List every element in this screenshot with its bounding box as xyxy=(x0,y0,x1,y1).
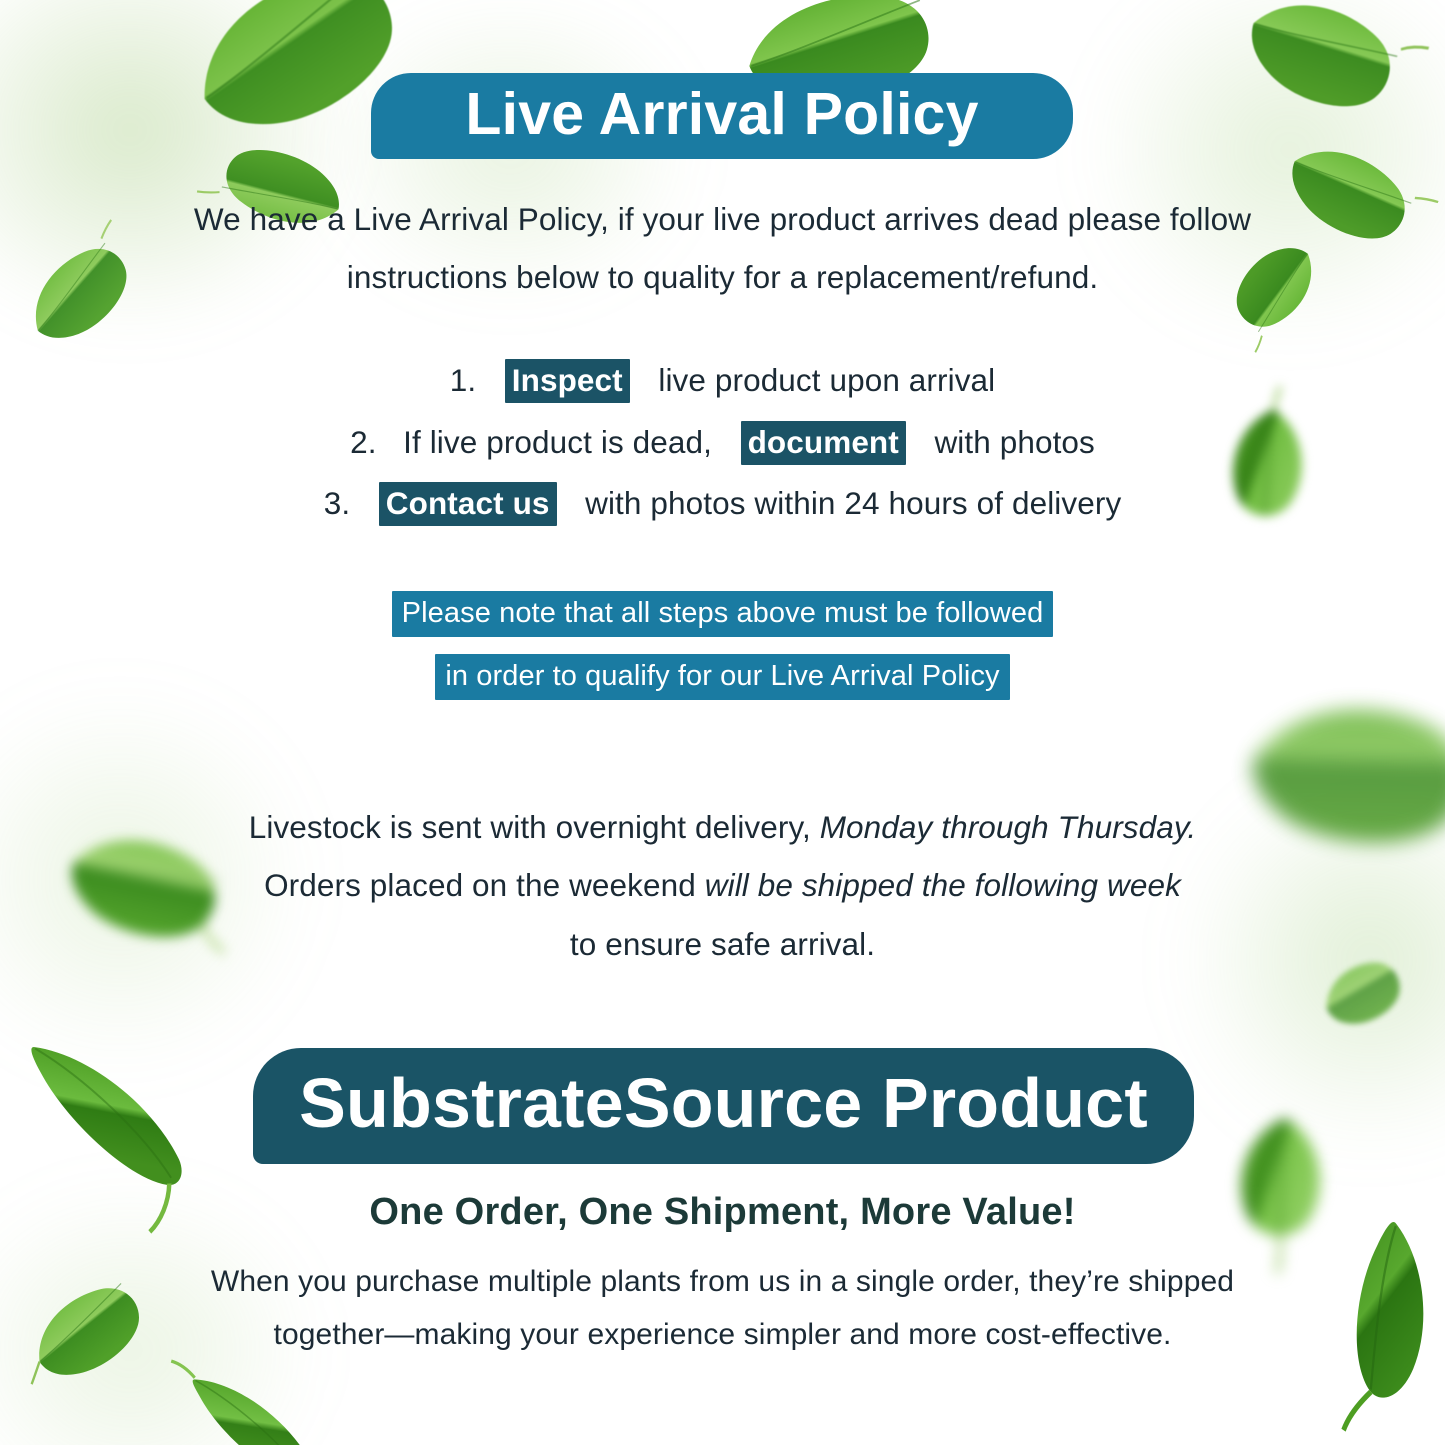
intro-line-1: We have a Live Arrival Policy, if your l… xyxy=(150,190,1295,248)
intro-line-2: instructions below to quality for a repl… xyxy=(150,248,1295,306)
step-text-pre: If live product is dead, xyxy=(403,424,712,460)
step-number: 2. xyxy=(350,424,376,460)
list-item: 1. Inspect live product upon arrival xyxy=(120,350,1325,412)
closing-line-2: together—making your experience simpler … xyxy=(150,1308,1295,1361)
step-highlight-document: document xyxy=(741,421,906,465)
policy-note-block: Please note that all steps above must be… xyxy=(120,582,1325,708)
livestock-line-2: Orders placed on the weekend will be shi… xyxy=(175,856,1270,914)
livestock-line-2-italic: will be shipped the following week xyxy=(705,867,1181,903)
list-item: 2. If live product is dead, document wit… xyxy=(120,412,1325,474)
substratesource-subheading: One Order, One Shipment, More Value! xyxy=(120,1191,1325,1234)
note-line-2-wrapper: in order to qualify for our Live Arrival… xyxy=(120,645,1325,708)
step-text: live product upon arrival xyxy=(658,362,995,398)
list-item: 3. Contact us with photos within 24 hour… xyxy=(120,473,1325,535)
step-text: with photos within 24 hours of delivery xyxy=(585,485,1121,521)
livestock-line-2-plain: Orders placed on the weekend xyxy=(264,867,696,903)
live-arrival-intro-paragraph: We have a Live Arrival Policy, if your l… xyxy=(150,190,1295,307)
step-highlight-contact-us[interactable]: Contact us xyxy=(379,482,557,526)
note-line-2: in order to qualify for our Live Arrival… xyxy=(435,654,1009,700)
live-arrival-policy-banner: Live Arrival Policy xyxy=(371,73,1073,159)
substratesource-product-banner: SubstrateSource Product xyxy=(253,1048,1194,1164)
live-arrival-steps-list: 1. Inspect live product upon arrival 2. … xyxy=(120,350,1325,535)
content-layer: Live Arrival Policy We have a Live Arriv… xyxy=(0,0,1445,1445)
livestock-line-1-plain: Livestock is sent with overnight deliver… xyxy=(249,809,811,845)
note-line-1: Please note that all steps above must be… xyxy=(392,591,1054,637)
livestock-line-3: to ensure safe arrival. xyxy=(175,915,1270,973)
step-number: 3. xyxy=(324,485,350,521)
livestock-line-1-italic: Monday through Thursday. xyxy=(820,809,1197,845)
livestock-shipping-paragraph: Livestock is sent with overnight deliver… xyxy=(175,798,1270,973)
step-text: with photos xyxy=(934,424,1094,460)
note-line-1-wrapper: Please note that all steps above must be… xyxy=(120,582,1325,645)
step-highlight-inspect: Inspect xyxy=(505,359,630,403)
closing-line-1: When you purchase multiple plants from u… xyxy=(150,1255,1295,1308)
step-number: 1. xyxy=(450,362,476,398)
policy-infographic: Live Arrival Policy We have a Live Arriv… xyxy=(0,0,1445,1445)
substratesource-body-paragraph: When you purchase multiple plants from u… xyxy=(150,1255,1295,1362)
livestock-line-1: Livestock is sent with overnight deliver… xyxy=(175,798,1270,856)
